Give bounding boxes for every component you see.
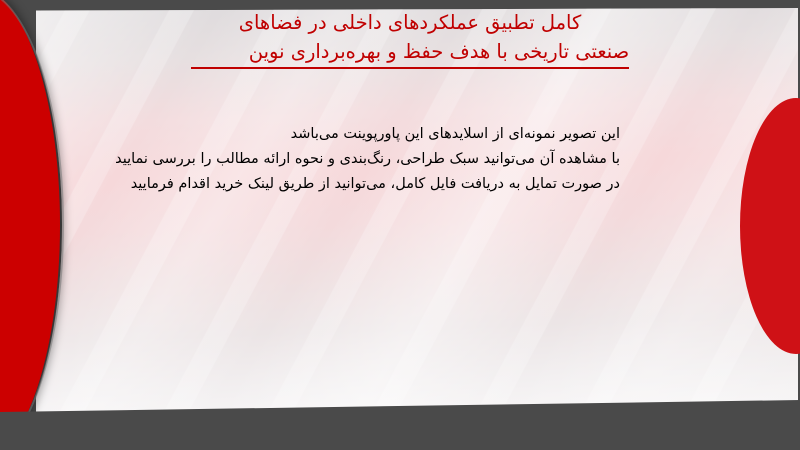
slide-title-line-1: کامل تطبیق عملکردهای داخلی در فضاهای [60, 8, 760, 37]
slide-body-line-2: با مشاهده آن می‌توانید سبک طراحی، رنگ‌بن… [115, 147, 620, 172]
slide-title: کامل تطبیق عملکردهای داخلی در فضاهای صنع… [60, 8, 760, 69]
slide-title-line-2: صنعتی تاریخی با هدف حفظ و بهره‌برداری نو… [191, 37, 630, 69]
presentation-slide: کامل تطبیق عملکردهای داخلی در فضاهای صنع… [0, 0, 800, 450]
slide-body-line-3: در صورت تمایل به دریافت فایل کامل، می‌تو… [115, 172, 620, 197]
slide-body-text: این تصویر نمونه‌ای از اسلایدهای این پاور… [115, 122, 620, 197]
slide-content-panel [36, 8, 798, 432]
slide-body-line-1: این تصویر نمونه‌ای از اسلایدهای این پاور… [115, 122, 620, 147]
